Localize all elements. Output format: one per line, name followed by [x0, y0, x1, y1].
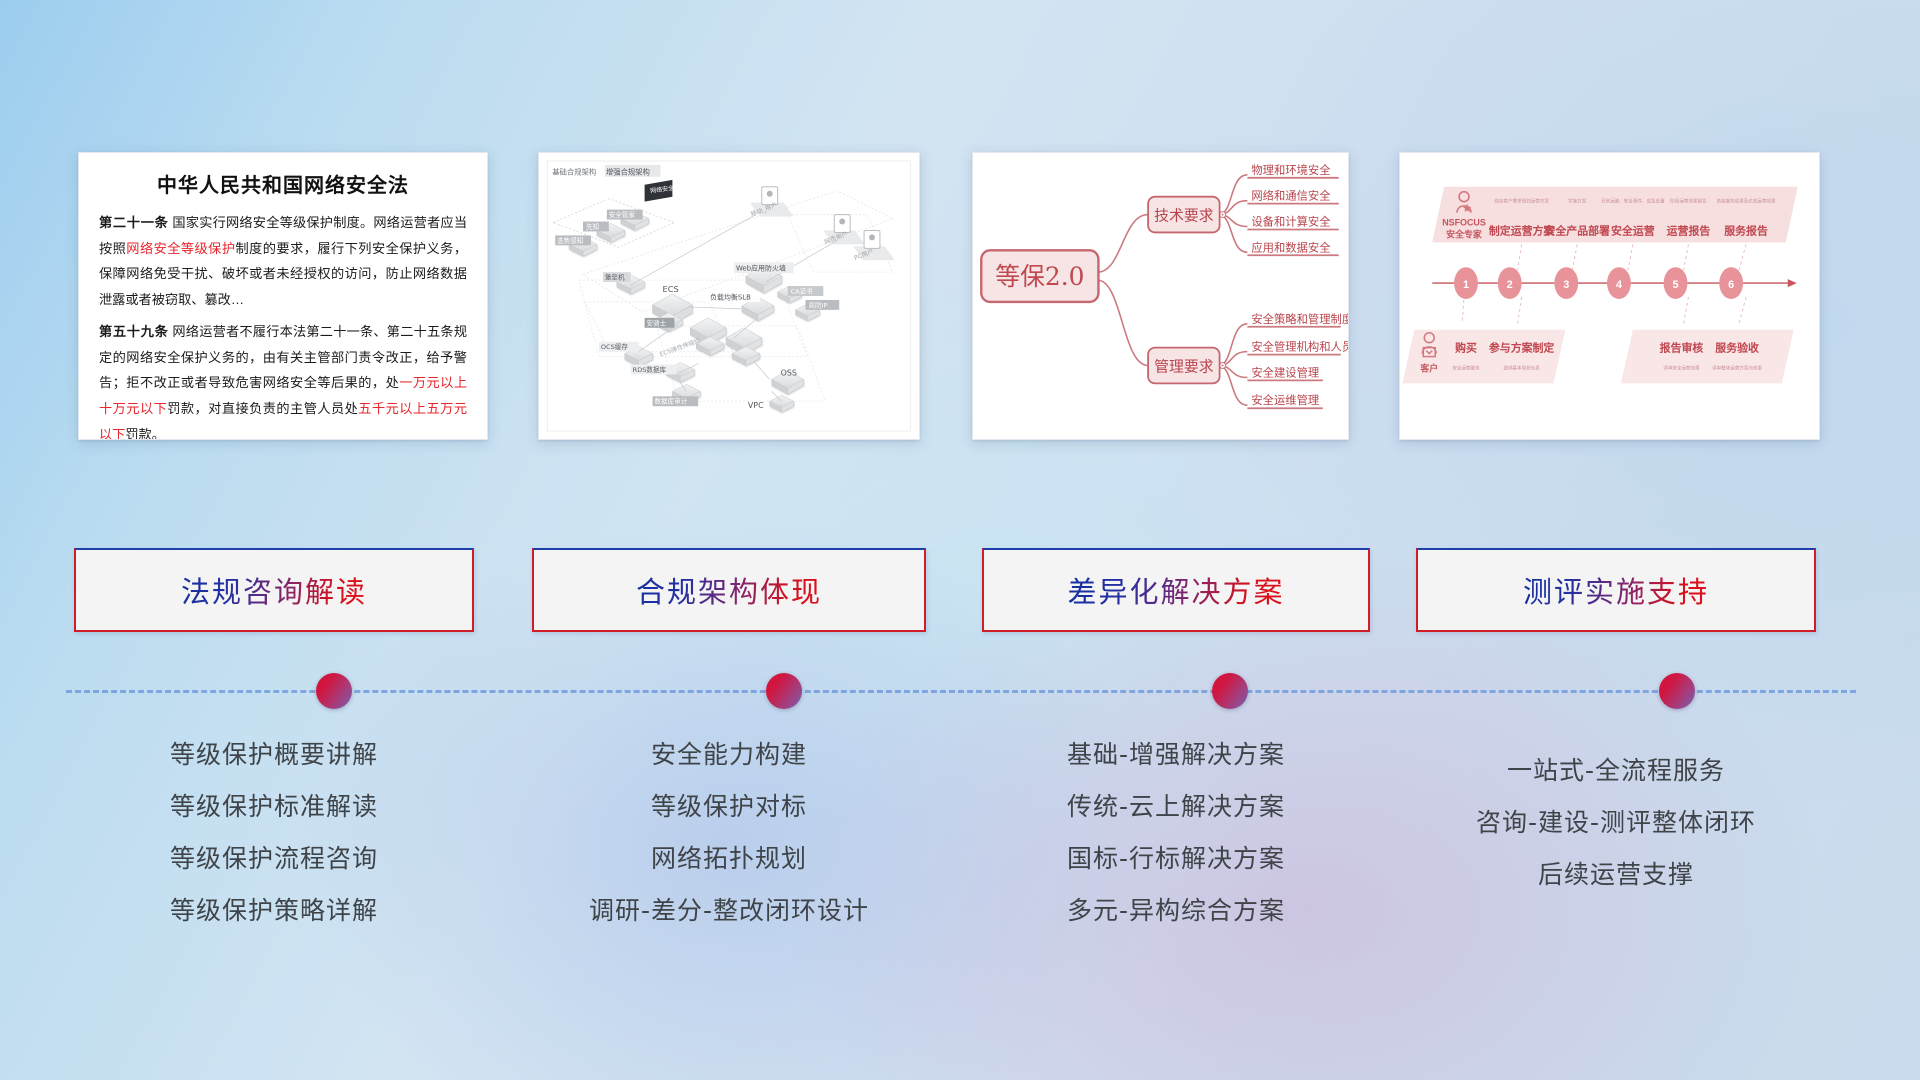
svg-text:Web应用防火墙: Web应用防火墙: [736, 264, 786, 273]
mindmap-leaf-1-2: 网络和通信安全: [1251, 189, 1331, 203]
flow-step-4: 4: [1616, 279, 1622, 291]
list-item: 安全能力构建: [532, 742, 926, 767]
law-article-21-label: 第二十一条: [99, 215, 169, 230]
svg-text:CA证书: CA证书: [791, 287, 814, 296]
timeline: [66, 690, 1856, 692]
law-article-59-text2: 罚款，对直接负责的主管人员处: [167, 401, 358, 416]
flow-bottom-title-2: 参与方案制定: [1489, 341, 1555, 355]
list-item: 咨询-建设-测评整体闭环: [1416, 810, 1816, 835]
flow-step-2: 2: [1507, 279, 1513, 291]
flow-bottom-sub-3: 评审安全运营效果: [1663, 364, 1700, 371]
card-service-flow: NSFOCUS 安全专家 客户 制定运营方案 结合客户需求规划运营方案 安全产品…: [1399, 152, 1820, 440]
flow-top-sub-4: 阶段运营效果报告: [1670, 198, 1707, 205]
cloud-architecture-diagram: 基础合规架构 增强合规架构 网络安全: [539, 153, 919, 439]
flow-top-sub-1: 结合客户需求规划运营方案: [1494, 198, 1549, 205]
section-title-box-2[interactable]: 合规架构体现: [532, 548, 926, 632]
flow-bottom-sub-4: 评审整体运营方案与效果: [1712, 364, 1762, 371]
flow-step-6: 6: [1728, 279, 1734, 291]
flow-bottom-sub-2: 提供基本现状信息: [1503, 364, 1540, 371]
law-article-21: 第二十一条 国家实行网络安全等级保护制度。网络运营者应当按照网络安全等级保护制度…: [99, 210, 467, 313]
mindmap-branch-1-label: 技术要求: [1154, 207, 1214, 225]
card-cloud-architecture: 基础合规架构 增强合规架构 网络安全: [538, 152, 920, 440]
svg-text:数据库审计: 数据库审计: [655, 397, 688, 406]
list-item: 调研-差分-整改闭环设计: [532, 898, 926, 923]
tab-basic-label: 基础合规架构: [552, 167, 596, 176]
law-title: 中华人民共和国网络安全法: [99, 169, 467, 198]
flow-step-5: 5: [1672, 279, 1678, 291]
svg-text:先知: 先知: [586, 222, 599, 231]
svg-text:ECS: ECS: [662, 284, 678, 294]
list-item: 传统-云上解决方案: [982, 794, 1370, 819]
section-title-box-1[interactable]: 法规咨询解读: [74, 548, 474, 632]
mindmap-root-label: 等保2.0: [995, 262, 1084, 291]
law-article-59-text3: 罚款。: [125, 427, 165, 440]
reference-image-row: 中华人民共和国网络安全法 第二十一条 国家实行网络安全等级保护制度。网络运营者应…: [0, 0, 1920, 450]
flow-step-1: 1: [1463, 279, 1469, 291]
section-title-label-4: 测评实施支持: [1523, 569, 1709, 611]
list-item: 等级保护概要讲解: [74, 742, 474, 767]
list-item: 基础-增强解决方案: [982, 742, 1370, 767]
law-text-block: 中华人民共和国网络安全法 第二十一条 国家实行网络安全等级保护制度。网络运营者应…: [79, 153, 487, 440]
list-item: 一站式-全流程服务: [1416, 758, 1816, 783]
flow-bottom-title-4: 服务验收: [1715, 341, 1759, 355]
flow-top-title-5: 服务报告: [1724, 223, 1768, 237]
mindmap-leaf-2-1: 安全策略和管理制度: [1251, 312, 1348, 326]
law-article-59-label: 第五十九条: [99, 324, 169, 339]
list-item: 等级保护流程咨询: [74, 846, 474, 871]
mindmap-leaf-1-1: 物理和环境安全: [1251, 163, 1331, 177]
svg-text:堡垒机: 堡垒机: [605, 273, 625, 282]
svg-text:高防IP: 高防IP: [808, 300, 827, 309]
nsfocus-service-flow-diagram: NSFOCUS 安全专家 客户 制定运营方案 结合客户需求规划运营方案 安全产品…: [1400, 153, 1819, 439]
flow-top-sub-2: 实施方案: [1568, 198, 1587, 205]
section-title-box-4[interactable]: 测评实施支持: [1416, 548, 1816, 632]
section-title-box-3[interactable]: 差异化解决方案: [982, 548, 1370, 632]
section-title-label-3: 差异化解决方案: [1067, 569, 1284, 611]
mindmap-branch-2-label: 管理要求: [1154, 357, 1214, 375]
svg-text:安全管家: 安全管家: [609, 210, 636, 219]
timeline-dot-3[interactable]: [1212, 673, 1248, 709]
flow-step-3: 3: [1563, 279, 1569, 291]
section-items-2: 安全能力构建 等级保护对标 网络拓扑规划 调研-差分-整改闭环设计: [532, 742, 926, 950]
flow-bottom-sub-1: 安全运营服务: [1452, 364, 1480, 371]
section-items-1: 等级保护概要讲解 等级保护标准解读 等级保护流程咨询 等级保护策略详解: [74, 742, 474, 950]
law-article-59: 第五十九条 网络运营者不履行本法第二十一条、第二十五条规定的网络安全保护义务的，…: [99, 319, 467, 440]
list-item: 国标-行标解决方案: [982, 846, 1370, 871]
flow-top-sub-5: 总结服务成果及达成运营效果: [1716, 198, 1776, 205]
list-item: 等级保护策略详解: [74, 898, 474, 923]
timeline-dot-1[interactable]: [316, 673, 352, 709]
flow-top-title-4: 运营报告: [1667, 223, 1711, 237]
timeline-dot-2[interactable]: [766, 673, 802, 709]
svg-text:OSS: OSS: [781, 368, 797, 377]
mindmap-leaf-1-3: 设备和计算安全: [1251, 214, 1331, 228]
svg-text:态势感知: 态势感知: [557, 236, 583, 245]
svg-text:负载均衡SLB: 负载均衡SLB: [710, 292, 751, 301]
card-mindmap: 等保2.0 技术要求 物理和环境安全 网络和通信安全 设备和计算安全 应用和数据…: [972, 152, 1349, 440]
law-article-21-highlight: 网络安全等级保护: [126, 241, 235, 256]
list-item: 等级保护标准解读: [74, 794, 474, 819]
section-title-label-2: 合规架构体现: [636, 569, 822, 611]
mindmap-leaf-2-4: 安全运维管理: [1251, 393, 1319, 407]
mindmap-leaf-2-2: 安全管理机构和人员: [1251, 340, 1348, 354]
expert-label-line2: 安全专家: [1446, 228, 1482, 239]
flow-top-title-3: 安全运营: [1611, 223, 1655, 237]
section-items-4: 一站式-全流程服务 咨询-建设-测评整体闭环 后续运营支撑: [1416, 758, 1816, 914]
svg-text:OCS缓存: OCS缓存: [601, 342, 628, 351]
svg-text:RDS数据库: RDS数据库: [633, 365, 667, 374]
svg-text:安骑士: 安骑士: [647, 318, 667, 327]
tab-enhanced-label: 增强合规架构: [606, 167, 650, 176]
flow-bottom-title-3: 报告审核: [1660, 341, 1704, 355]
mindmap-leaf-1-4: 应用和数据安全: [1251, 240, 1331, 254]
section-title-label-1: 法规咨询解读: [181, 569, 367, 611]
section-items-3: 基础-增强解决方案 传统-云上解决方案 国标-行标解决方案 多元-异构综合方案: [982, 742, 1370, 950]
timeline-dot-4[interactable]: [1659, 673, 1695, 709]
flow-top-title-2: 安全产品部署: [1545, 223, 1611, 237]
mindmap-leaf-2-3: 安全建设管理: [1251, 365, 1319, 379]
list-item: 等级保护对标: [532, 794, 926, 819]
flow-bottom-title-1: 购买: [1455, 341, 1477, 355]
customer-label: 客户: [1419, 362, 1438, 373]
svg-text:VPC: VPC: [748, 401, 764, 410]
expert-label-line1: NSFOCUS: [1442, 217, 1486, 227]
architecture-tabs[interactable]: 基础合规架构 增强合规架构: [551, 165, 660, 177]
dengbao-mindmap: 等保2.0 技术要求 物理和环境安全 网络和通信安全 设备和计算安全 应用和数据…: [973, 153, 1348, 439]
list-item: 多元-异构综合方案: [982, 898, 1370, 923]
list-item: 后续运营支撑: [1416, 862, 1816, 887]
flow-top-sub-3: 日常运维、安全事件、应急处置: [1601, 198, 1665, 205]
list-item: 网络拓扑规划: [532, 846, 926, 871]
card-cybersecurity-law: 中华人民共和国网络安全法 第二十一条 国家实行网络安全等级保护制度。网络运营者应…: [78, 152, 488, 440]
